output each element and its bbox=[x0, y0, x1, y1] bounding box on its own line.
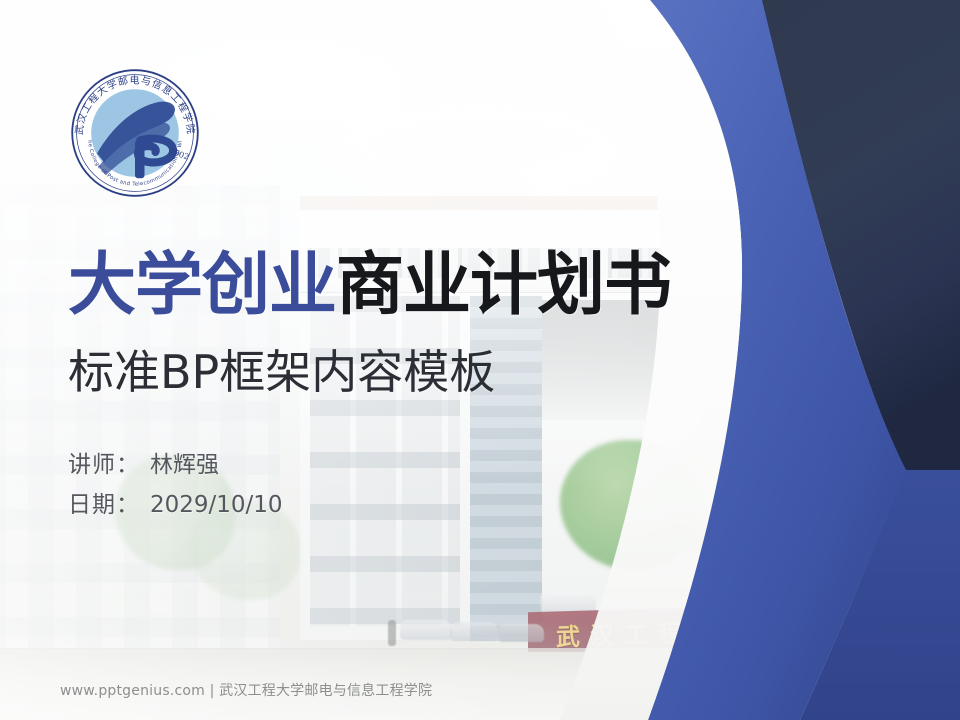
car bbox=[450, 622, 498, 641]
date-value: 2029/10/10 bbox=[150, 492, 283, 518]
presenter-value: 林辉强 bbox=[150, 452, 219, 478]
pedestrian bbox=[388, 620, 396, 646]
slide-title: 大学创业商业计划书 bbox=[68, 252, 671, 320]
car bbox=[400, 620, 452, 640]
slide-footer: www.pptgenius.com | 武汉工程大学邮电与信息工程学院 bbox=[60, 680, 432, 700]
date-label: 日期： bbox=[68, 492, 140, 518]
slide-meta: 讲师：林辉强 日期：2029/10/10 bbox=[68, 445, 283, 525]
presentation-slide: 武汉工程大学 bbox=[0, 0, 960, 720]
slide-title-main: 商业计划书 bbox=[336, 246, 671, 325]
slide-title-accent: 大学创业 bbox=[68, 246, 336, 325]
meta-row-date: 日期：2029/10/10 bbox=[68, 485, 283, 525]
presenter-label: 讲师： bbox=[68, 452, 140, 478]
slide-subtitle: 标准BP框架内容模板 bbox=[68, 349, 495, 395]
university-name-stone-text: 武汉工程大学 bbox=[556, 611, 806, 652]
meta-row-presenter: 讲师：林辉强 bbox=[68, 445, 283, 485]
car bbox=[498, 624, 544, 642]
university-logo: 2002 武汉工程大学邮电与信息工程学院 The College of Post… bbox=[62, 60, 208, 206]
